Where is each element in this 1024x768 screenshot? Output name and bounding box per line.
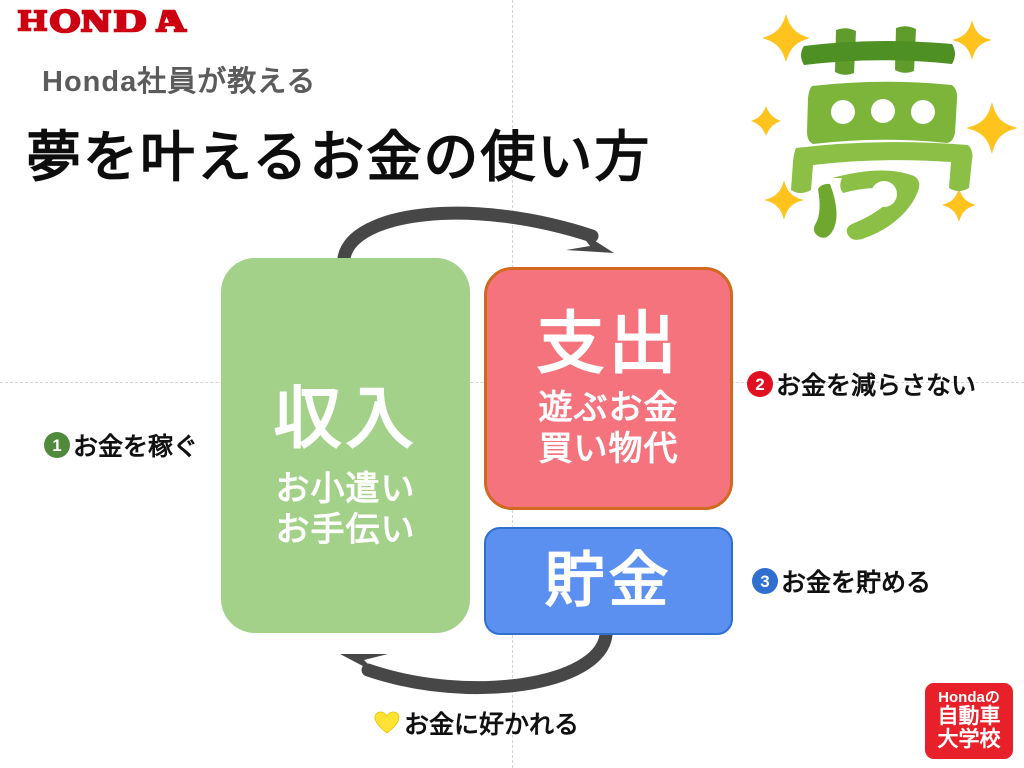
savings-box[interactable]: 貯金 (484, 527, 733, 635)
circled-number-3-icon: 3 (752, 568, 778, 594)
savings-title: 貯金 (545, 551, 673, 611)
annotation-loved-by-money: お金に好かれる (374, 705, 579, 741)
dream-kanji-illustration (744, 2, 1024, 242)
income-subtitle: お小遣い お手伝い (276, 469, 416, 549)
annotation-save-money: 3 お金を貯める (752, 563, 931, 599)
income-title: 収入 (273, 385, 417, 453)
school-logo-line-1: Hondaの (938, 690, 1000, 706)
school-logo-line-3: 大学校 (938, 729, 1001, 752)
school-logo-line-2: 自動車 (938, 706, 1001, 729)
expense-subtitle: 遊ぶお金 買い物代 (539, 388, 679, 468)
honda-school-logo: Hondaの 自動車 大学校 (925, 683, 1013, 759)
circled-number-1-icon: 1 (44, 432, 70, 458)
slide-canvas: Honda社員が教える 夢を叶えるお金の使い方 (0, 0, 1024, 768)
annotation-earn-money: 1 お金を稼ぐ (44, 427, 198, 463)
slide-title: 夢を叶えるお金の使い方 (26, 112, 651, 192)
kanji-strokes (791, 26, 973, 240)
annotation-2-label: お金を減らさない (776, 366, 976, 402)
annotation-1-label: お金を稼ぐ (73, 427, 198, 463)
circled-number-2-icon: 2 (747, 371, 773, 397)
income-subtitle-line-2: お手伝い (276, 510, 416, 550)
income-to-expense-arrow (344, 213, 614, 258)
annotation-dont-reduce-money: 2 お金を減らさない (747, 366, 976, 402)
expense-title: 支出 (536, 310, 680, 378)
savings-to-income-arrow (340, 635, 606, 688)
expense-subtitle-line-1: 遊ぶお金 (539, 388, 679, 428)
income-box[interactable]: 収入 お小遣い お手伝い (221, 258, 470, 633)
annotation-3-label: お金を貯める (781, 563, 931, 599)
expense-box[interactable]: 支出 遊ぶお金 買い物代 (484, 267, 733, 510)
slide-subtitle: Honda社員が教える (42, 58, 316, 100)
honda-wordmark-logo (16, 6, 194, 40)
annotation-4-label: お金に好かれる (404, 705, 579, 741)
heart-icon (374, 710, 400, 736)
income-subtitle-line-1: お小遣い (276, 469, 416, 509)
expense-subtitle-line-2: 買い物代 (539, 429, 679, 469)
